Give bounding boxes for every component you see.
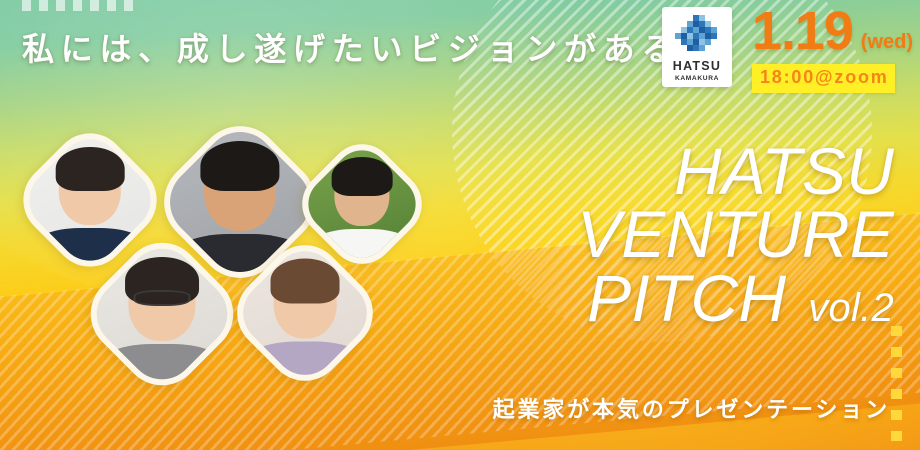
- title-line-1: HATSU: [577, 140, 894, 203]
- event-tagline: 起業家が本気のプレゼンテーション: [493, 392, 890, 424]
- speaker-photo-cluster: [0, 0, 460, 450]
- event-date: 1.19: [752, 4, 853, 58]
- pixel-mosaic-icon: [672, 13, 722, 57]
- dashed-rule-right: [891, 326, 902, 450]
- event-banner: 私には、成し遂げたいビジョンがある。: [0, 0, 920, 450]
- logo-wordmark: HATSU: [673, 60, 721, 73]
- date-line: 1.19 (wed): [752, 4, 912, 58]
- title-line-3: PITCH: [587, 267, 786, 330]
- event-date-block: 1.19 (wed) 18:00@zoom: [752, 4, 912, 93]
- title-line-2: VENTURE: [577, 203, 894, 266]
- event-title: HATSU VENTURE PITCH vol.2: [577, 140, 894, 330]
- title-volume: vol.2: [808, 289, 894, 327]
- event-time-band: 18:00@zoom: [752, 64, 895, 93]
- logo-subtitle: KAMAKURA: [675, 76, 719, 83]
- event-weekday: (wed): [861, 32, 913, 52]
- hatsu-kamakura-logo: HATSU KAMAKURA: [662, 7, 732, 87]
- event-time: 18:00@zoom: [760, 67, 889, 87]
